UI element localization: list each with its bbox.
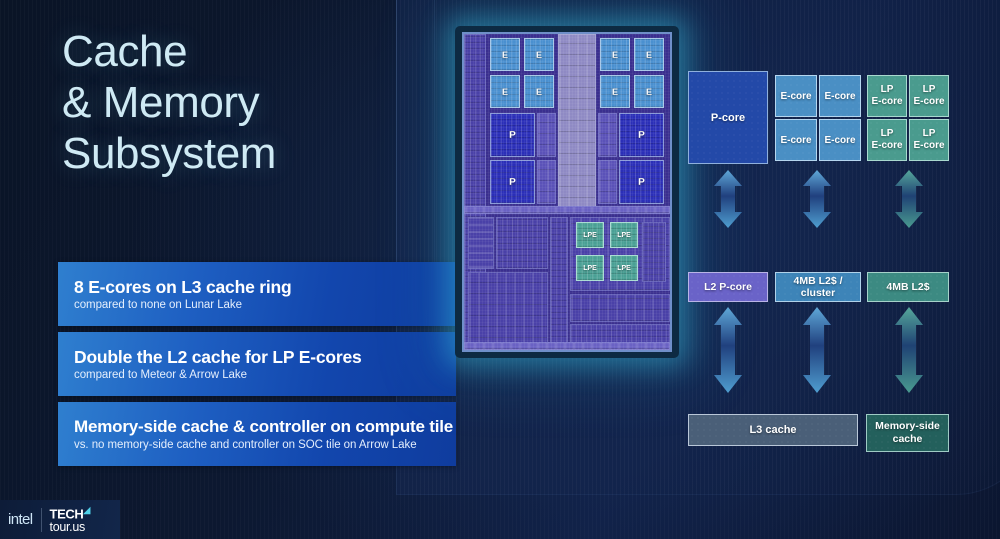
callout-headline: Double the L2 cache for LP E-cores xyxy=(74,347,456,367)
diagram-box-label-line1: LP xyxy=(923,128,936,139)
die-region-logic xyxy=(496,217,548,269)
diagram-box-label: P-core xyxy=(711,112,745,124)
diagram-box-label-line2: E-core xyxy=(871,140,902,151)
die-label-e: E xyxy=(635,39,663,70)
diagram-box-label: E-core xyxy=(824,135,855,146)
diagram-box-l3-cache[interactable]: L3 cache xyxy=(688,414,858,446)
title-line-3: Subsystem xyxy=(62,128,392,179)
die-region-p-cache xyxy=(598,160,617,204)
die-label-p: P xyxy=(620,161,663,203)
tech-tour-accent-icon: ◢ xyxy=(83,505,90,515)
diagram-box-e-core[interactable]: E-core xyxy=(775,75,817,117)
diagram-box-label: L2 P-core xyxy=(704,281,752,293)
callout-bar: Memory-side cache & controller on comput… xyxy=(58,402,456,466)
die-block-p-core: P xyxy=(490,113,535,157)
tech-tour-line2: tour.us xyxy=(50,521,90,534)
die-region-bottom-io xyxy=(464,342,670,350)
tech-tour-line1: TECH◢ xyxy=(50,506,90,520)
die-label-e: E xyxy=(491,39,519,70)
die-block-p-core: P xyxy=(619,113,664,157)
diagram-box-l2-lp[interactable]: 4MB L2$ xyxy=(867,272,949,302)
diagram-box-label: E-core xyxy=(780,135,811,146)
diagram-box-lp-e-core[interactable]: LPE-core xyxy=(867,75,907,117)
diagram-box-lp-e-core[interactable]: LPE-core xyxy=(867,119,907,161)
die-region-logic xyxy=(468,272,548,350)
diagram-box-l2-cluster[interactable]: 4MB L2$ / cluster xyxy=(775,272,861,302)
die-label-p: P xyxy=(620,114,663,156)
callout-subtext: compared to Meteor & Arrow Lake xyxy=(74,369,456,381)
die-region-ring xyxy=(558,34,596,210)
die-block-e-core: E xyxy=(600,38,630,71)
die-region-lpe-cache xyxy=(642,222,666,282)
diagram-box-label-line1: LP xyxy=(923,84,936,95)
diagram-box-label-line2: cache xyxy=(893,433,923,445)
die-label-e: E xyxy=(601,76,629,107)
die-block-lp-e-core: LPE xyxy=(576,255,604,281)
title-line-2: & Memory xyxy=(62,77,392,128)
die-label-lpe: LPE xyxy=(611,256,637,280)
die-block-p-core: P xyxy=(619,160,664,204)
diagram-box-label-line1: LP xyxy=(881,84,894,95)
diagram-box-label-line1: Memory-side xyxy=(875,420,940,432)
die-label-e: E xyxy=(601,39,629,70)
die-label-e: E xyxy=(635,76,663,107)
diagram-box-label: 4MB L2$ xyxy=(886,281,929,293)
diagram-box-l2-p-core[interactable]: L2 P-core xyxy=(688,272,768,302)
die-region-p-cache xyxy=(537,160,556,204)
die-label-p: P xyxy=(491,114,534,156)
die-block-e-core: E xyxy=(600,75,630,108)
diagram-box-lp-e-core[interactable]: LPE-core xyxy=(909,119,949,161)
die-label-p: P xyxy=(491,161,534,203)
diagram-box-e-core[interactable]: E-core xyxy=(819,75,861,117)
branding-bar: intel TECH◢ tour.us xyxy=(0,500,120,539)
intel-logo: intel xyxy=(8,511,33,528)
tech-tour-logo: TECH◢ tour.us xyxy=(50,506,90,534)
diagram-box-e-core[interactable]: E-core xyxy=(775,119,817,161)
die-label-e: E xyxy=(525,76,553,107)
callout-subtext: compared to none on Lunar Lake xyxy=(74,299,456,311)
die-shot: E E E E E E E E P P P P LPE LPE LPE LPE xyxy=(462,32,672,352)
die-block-e-core: E xyxy=(634,75,664,108)
die-label-e: E xyxy=(491,76,519,107)
die-block-e-core: E xyxy=(524,38,554,71)
die-block-lp-e-core: LPE xyxy=(576,222,604,248)
diagram-box-label: E-core xyxy=(824,91,855,102)
die-region-logic xyxy=(570,294,670,322)
diagram-box-label-line2: E-core xyxy=(913,96,944,107)
callout-headline: 8 E-cores on L3 cache ring xyxy=(74,277,456,297)
die-block-e-core: E xyxy=(524,75,554,108)
tech-label: TECH xyxy=(50,506,84,521)
die-region-logic xyxy=(550,217,568,350)
die-label-lpe: LPE xyxy=(577,223,603,247)
die-block-e-core: E xyxy=(634,38,664,71)
die-region-divider xyxy=(464,206,670,214)
diagram-box-label-line2: E-core xyxy=(913,140,944,151)
diagram-box-p-core[interactable]: P-core xyxy=(688,71,768,164)
page-title: Cache & Memory Subsystem xyxy=(62,26,392,179)
title-line-1: Cache xyxy=(62,26,392,77)
diagram-box-memory-side-cache[interactable]: Memory-sidecache xyxy=(866,414,949,452)
diagram-box-e-core[interactable]: E-core xyxy=(819,119,861,161)
die-block-lp-e-core: LPE xyxy=(610,222,638,248)
callout-bar: 8 E-cores on L3 cache ring compared to n… xyxy=(58,262,456,326)
slide-root: Cache & Memory Subsystem 8 E-cores on L3… xyxy=(0,0,1000,539)
logo-divider xyxy=(41,508,42,532)
callout-subtext: vs. no memory-side cache and controller … xyxy=(74,439,456,451)
diagram-box-label: 4MB L2$ / cluster xyxy=(776,275,860,299)
die-block-e-core: E xyxy=(490,75,520,108)
die-region-p-cache xyxy=(537,113,556,157)
callout-bar: Double the L2 cache for LP E-cores compa… xyxy=(58,332,456,396)
die-region-sram xyxy=(468,217,494,269)
die-region-p-cache xyxy=(598,113,617,157)
diagram-box-label: E-core xyxy=(780,91,811,102)
die-label-e: E xyxy=(525,39,553,70)
diagram-box-lp-e-core[interactable]: LPE-core xyxy=(909,75,949,117)
die-label-lpe: LPE xyxy=(577,256,603,280)
die-block-e-core: E xyxy=(490,38,520,71)
callout-bar-list: 8 E-cores on L3 cache ring compared to n… xyxy=(58,262,456,472)
die-block-lp-e-core: LPE xyxy=(610,255,638,281)
diagram-box-label: L3 cache xyxy=(749,424,796,436)
diagram-box-label-line2: E-core xyxy=(871,96,902,107)
diagram-box-label-line1: LP xyxy=(881,128,894,139)
die-block-p-core: P xyxy=(490,160,535,204)
callout-headline: Memory-side cache & controller on comput… xyxy=(74,417,456,437)
die-label-lpe: LPE xyxy=(611,223,637,247)
